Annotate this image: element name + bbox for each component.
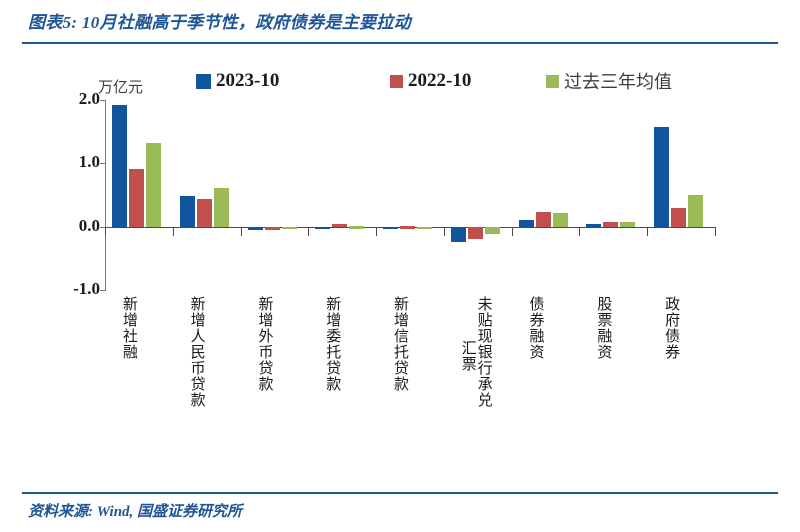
y-axis-line xyxy=(105,100,106,290)
x-category-label: 新增委托贷款 xyxy=(324,296,340,392)
x-axis-tick xyxy=(173,227,174,236)
x-axis-tick xyxy=(308,227,309,236)
x-axis-tick xyxy=(376,227,377,236)
bar-group xyxy=(246,100,299,290)
x-category-label-column: 新增委托贷款 xyxy=(324,296,340,392)
bar xyxy=(417,227,432,230)
bar xyxy=(468,227,483,239)
bar xyxy=(671,208,686,226)
x-category-label-column: 新增信托贷款 xyxy=(392,296,408,392)
chart-header: 图表5: 10月社融高于季节性，政府债券是主要拉动 xyxy=(0,0,800,48)
y-tick-label: 0.0 xyxy=(79,216,100,236)
bar xyxy=(282,227,297,230)
footer-divider xyxy=(22,492,778,494)
x-category-label-column: 汇票 xyxy=(460,340,476,372)
y-tick-label: 2.0 xyxy=(79,89,100,109)
x-category-label-column: 未贴现银行承兑 xyxy=(476,296,492,408)
bar xyxy=(586,224,601,227)
y-axis-tick xyxy=(100,100,106,101)
y-axis-tick xyxy=(100,290,106,291)
header-divider xyxy=(22,42,778,44)
legend-swatch-icon-average xyxy=(546,75,559,88)
bar xyxy=(451,227,466,243)
x-category-label: 未贴现银行承兑汇票 xyxy=(460,296,492,408)
x-category-label: 债券融资 xyxy=(528,296,544,360)
bar xyxy=(688,195,703,227)
x-axis-category-labels: 新增社融新增人民币贷款新增外币贷款新增委托贷款新增信托贷款未贴现银行承兑汇票债券… xyxy=(105,296,725,481)
bar xyxy=(315,227,330,230)
x-category-label: 政府债券 xyxy=(663,296,679,360)
legend-label-2022: 2022-10 xyxy=(408,70,471,92)
bar xyxy=(485,227,500,234)
legend-label-2023: 2023-10 xyxy=(216,70,279,92)
x-category-label-column: 债券融资 xyxy=(528,296,544,360)
bar xyxy=(197,199,212,226)
x-axis-tick xyxy=(512,227,513,236)
y-axis-tick xyxy=(100,163,106,164)
bar xyxy=(654,127,669,226)
x-category-label: 新增信托贷款 xyxy=(392,296,408,392)
bar-group xyxy=(584,100,637,290)
legend-item-2022: 2022-10 xyxy=(390,68,471,94)
bar xyxy=(129,169,144,227)
bar xyxy=(146,143,161,227)
bar xyxy=(400,226,415,229)
legend-label-average: 过去三年均值 xyxy=(564,68,672,94)
bar xyxy=(214,188,229,227)
bar-group xyxy=(313,100,366,290)
x-category-label-column: 新增人民币贷款 xyxy=(189,296,205,408)
page-title: 图表5: 10月社融高于季节性，政府债券是主要拉动 xyxy=(28,8,411,33)
x-axis-tick xyxy=(444,227,445,236)
bar-group xyxy=(110,100,163,290)
chart-legend: 2023-10 2022-10 过去三年均值 xyxy=(196,68,756,94)
bar xyxy=(603,222,618,227)
bar xyxy=(248,227,263,230)
bar xyxy=(349,226,364,229)
legend-item-average: 过去三年均值 xyxy=(546,68,672,94)
x-category-label-column: 政府债券 xyxy=(663,296,679,360)
legend-swatch-icon-2023 xyxy=(196,74,211,89)
bar xyxy=(265,227,280,231)
x-axis-tick xyxy=(647,227,648,236)
y-tick-label: -1.0 xyxy=(73,279,100,299)
x-axis-tick xyxy=(715,227,716,236)
y-tick-label: 1.0 xyxy=(79,152,100,172)
bar xyxy=(180,196,195,226)
bar xyxy=(383,227,398,230)
bar-group xyxy=(652,100,705,290)
bar xyxy=(620,222,635,227)
x-category-label: 新增人民币贷款 xyxy=(189,296,205,408)
x-category-label: 新增外币贷款 xyxy=(257,296,273,392)
bar-group xyxy=(178,100,231,290)
x-axis-tick xyxy=(105,227,106,236)
x-category-label-column: 股票融资 xyxy=(595,296,611,360)
source-note: 资料来源: Wind, 国盛证券研究所 xyxy=(28,500,242,521)
y-axis-tick-labels: 2.01.00.0-1.0 xyxy=(52,88,100,303)
chart-page: 图表5: 10月社融高于季节性，政府债券是主要拉动 2023-10 2022-1… xyxy=(0,0,800,532)
x-axis-tick xyxy=(579,227,580,236)
y-axis-unit-label: 万亿元 xyxy=(98,76,143,97)
x-category-label-column: 新增社融 xyxy=(121,296,137,360)
legend-item-2023: 2023-10 xyxy=(196,68,279,94)
bar xyxy=(536,212,551,227)
bar-group xyxy=(517,100,570,290)
bar xyxy=(332,224,347,227)
bar xyxy=(519,220,534,226)
bar xyxy=(112,105,127,227)
bar-group xyxy=(381,100,434,290)
x-axis-tick xyxy=(241,227,242,236)
x-category-label: 股票融资 xyxy=(595,296,611,360)
x-category-label: 新增社融 xyxy=(121,296,137,360)
bar xyxy=(553,213,568,227)
x-category-label-column: 新增外币贷款 xyxy=(257,296,273,392)
plot-area xyxy=(105,100,715,290)
legend-swatch-icon-2022 xyxy=(390,75,403,88)
bar-group xyxy=(449,100,502,290)
